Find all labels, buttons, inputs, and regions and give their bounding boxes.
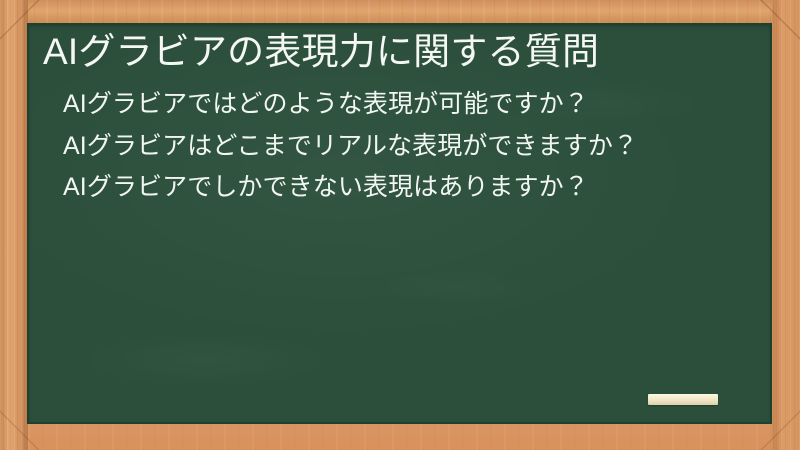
frame-rail-top [0, 0, 800, 24]
frame-rail-left [0, 0, 28, 450]
page-title: AIグラビアの表現力に関する質問 [37, 29, 758, 74]
chalkboard-slide: AIグラビアの表現力に関する質問 AIグラビアではどのような表現が可能ですか？ … [0, 0, 800, 450]
chalk-stick-icon [648, 394, 718, 405]
frame-rail-bottom [0, 423, 800, 450]
board-content: AIグラビアの表現力に関する質問 AIグラビアではどのような表現が可能ですか？ … [27, 23, 772, 424]
frame-rail-right [772, 0, 800, 450]
list-item: AIグラビアではどのような表現が可能ですか？ [63, 88, 748, 121]
question-list: AIグラビアではどのような表現が可能ですか？ AIグラビアはどこまでリアルな表現… [37, 88, 758, 204]
chalkboard-surface: AIグラビアの表現力に関する質問 AIグラビアではどのような表現が可能ですか？ … [27, 23, 772, 424]
list-item: AIグラビアはどこまでリアルな表現ができますか？ [63, 130, 748, 163]
list-item: AIグラビアでしかできない表現はありますか？ [63, 171, 748, 204]
